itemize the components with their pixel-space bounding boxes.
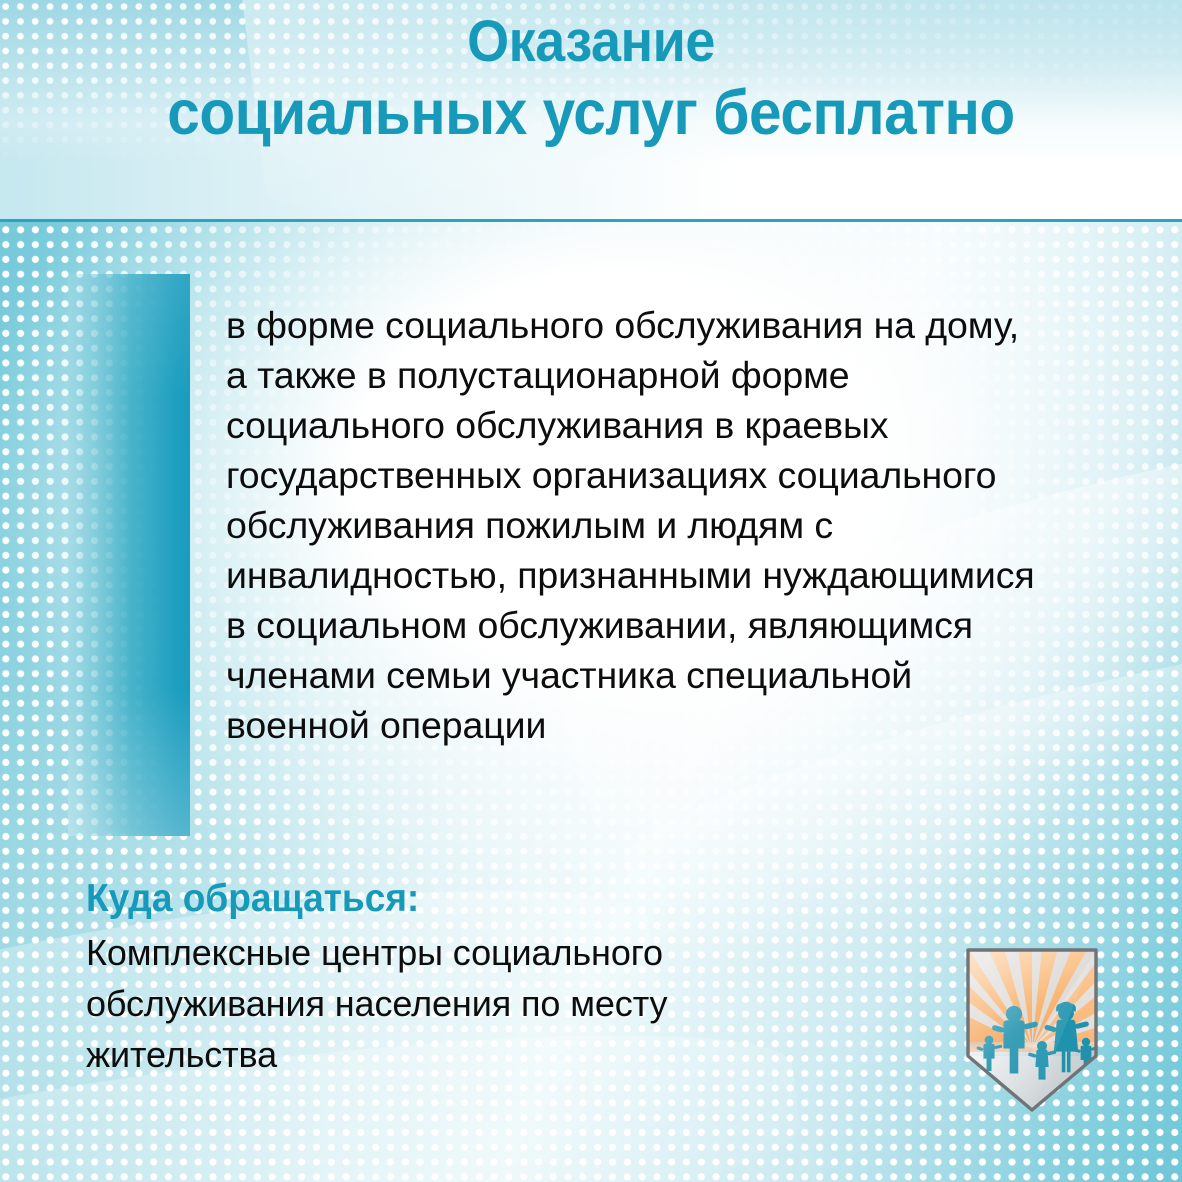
contact-section: Куда обращаться: Комплексные центры соци…	[86, 877, 826, 1080]
family-shield-emblem	[962, 944, 1102, 1116]
contact-body-text: Комплексные центры социального обслужива…	[86, 927, 826, 1080]
contact-heading: Куда обращаться:	[86, 877, 789, 921]
page-title: Оказание социальных услуг бесплатно	[0, 14, 1182, 145]
poster-header: Оказание социальных услуг бесплатно	[0, 0, 1182, 222]
teal-accent-bar	[68, 274, 190, 836]
main-body-text: в форме социального обслуживания на дому…	[226, 300, 1156, 750]
title-line-secondary: социальных услуг бесплатно	[41, 83, 1140, 145]
poster-body: в форме социального обслуживания на дому…	[0, 222, 1182, 1182]
poster-canvas: Оказание социальных услуг бесплатно в фо…	[0, 0, 1182, 1182]
title-line-primary: Оказание	[41, 14, 1140, 71]
